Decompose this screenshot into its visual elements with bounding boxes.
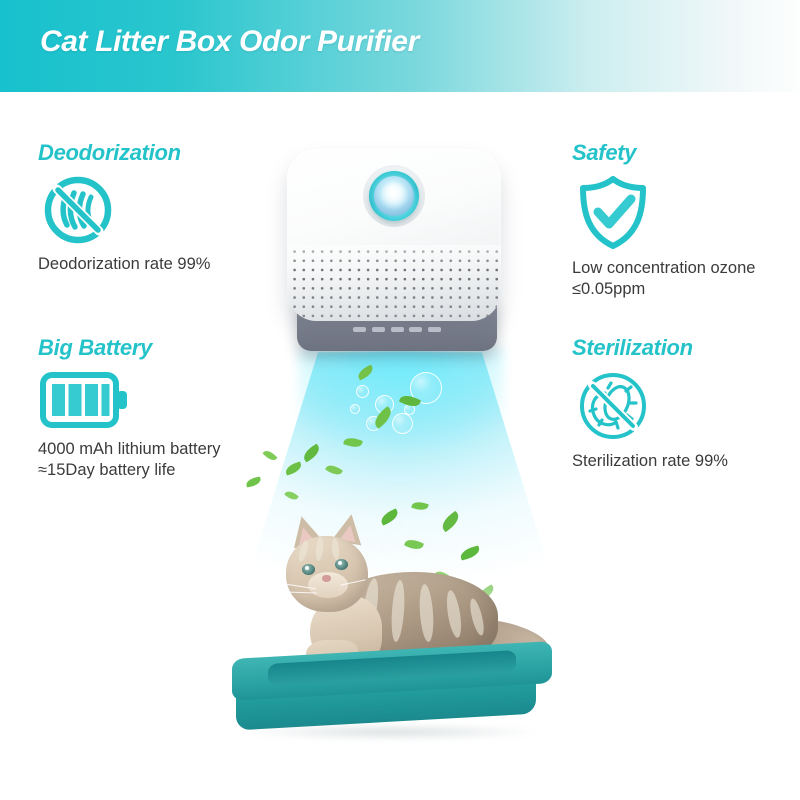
feature-title: Sterilization <box>572 335 728 361</box>
feature-deodorization: Deodorization Deodorization rate 99% <box>38 140 210 275</box>
shield-check-icon <box>574 172 652 252</box>
cat-litter-scene <box>232 500 580 750</box>
feature-title: Deodorization <box>38 140 210 166</box>
feature-sterilization: Sterilization Sterilization rate 99% <box>572 335 728 472</box>
page-title: Cat Litter Box Odor Purifier <box>40 25 419 59</box>
bubble-icon <box>350 404 360 414</box>
feature-description: Low concentration ozone ≤0.05ppm <box>572 258 755 301</box>
feature-title: Big Battery <box>38 335 221 361</box>
cat-nose <box>322 575 331 582</box>
leaf-icon <box>245 477 261 488</box>
battery-full-icon <box>40 367 132 433</box>
device-vent-shading <box>287 245 501 321</box>
header-banner: Cat Litter Box Odor Purifier <box>0 0 800 92</box>
bubble-icon <box>392 413 413 434</box>
bubble-icon <box>356 385 369 398</box>
teal-litter-tray <box>232 650 552 738</box>
feature-description: 4000 mAh lithium battery ≈15Day battery … <box>38 439 221 482</box>
tray-shadow <box>242 724 542 740</box>
ozone-glow-core <box>298 348 504 468</box>
leaf-icon <box>262 448 277 463</box>
feature-big-battery: Big Battery 4000 mAh lithium battery ≈15… <box>38 335 221 482</box>
feature-title: Safety <box>572 140 755 166</box>
no-bacteria-icon <box>574 367 652 445</box>
feature-safety: Safety Low concentration ozone ≤0.05ppm <box>572 140 755 301</box>
device-indicator-lights <box>353 327 441 334</box>
power-button-glow <box>380 182 408 210</box>
odor-purifier-device <box>283 145 509 360</box>
no-odor-icon <box>40 172 116 248</box>
cat-eye-right <box>335 559 348 570</box>
feature-description: Sterilization rate 99% <box>572 451 728 472</box>
product-infographic: Cat Litter Box Odor Purifier <box>0 0 800 800</box>
device-body <box>287 149 501 321</box>
feature-description: Deodorization rate 99% <box>38 254 210 275</box>
cat-eye-left <box>302 564 315 575</box>
